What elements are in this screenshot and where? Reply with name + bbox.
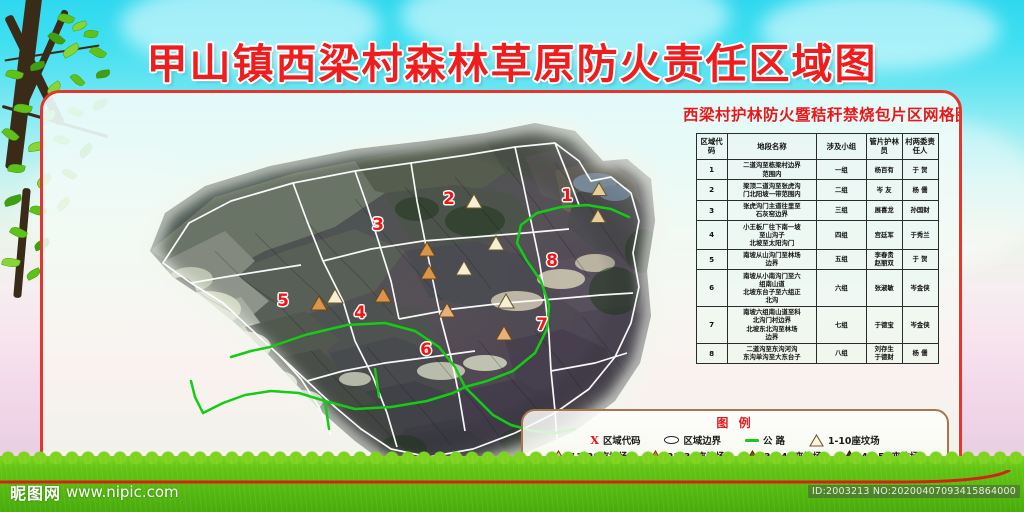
cell-group: 七组: [817, 306, 867, 343]
grave-marker-icon: [487, 235, 505, 251]
brand-watermark: 昵图网 www.nipic.com: [10, 480, 179, 504]
table-row: 7南坡六组南山道至科北沟门村边界北坡东北沟至林场边界七组于德宝岑金侠: [696, 306, 938, 343]
legend-title: 图 例: [523, 414, 947, 431]
legend-item-graves-1-10: 1-10座坟场: [809, 433, 880, 447]
image-id-code: ID:2003213 NO:20200407093415864000: [808, 485, 1020, 498]
cell-area-code: 2: [696, 180, 727, 200]
responsibility-table: 区域代码 地段名称 涉及小组 管片护林员 村两委责任人 1二道沟至栋梁村边界范围…: [696, 133, 939, 364]
cell-area-code: 6: [696, 270, 727, 307]
cell-area-code: 4: [696, 221, 727, 250]
cell-group: 五组: [817, 249, 867, 269]
table-body: 1二道沟至栋梁村边界范围内一组杨百有于 贺2梁顶二道沟至张虎沟门北阳坡一带范围内…: [696, 159, 938, 363]
area-marker-2[interactable]: 2: [443, 189, 455, 209]
table-row: 8二道沟至东沟河沟东沟单沟至大东台子八组刘存生于德财杨 儒: [696, 343, 938, 363]
th-section-name-label: 地段名称: [757, 142, 787, 151]
area-marker-4[interactable]: 4: [354, 303, 366, 323]
cell-section-name: 南坡从山沟门至林场边界: [727, 249, 816, 269]
cell-ranger: 展喜龙: [866, 200, 902, 220]
ellipse-outline-icon: [664, 436, 679, 444]
cell-section-name: 二道沟至东沟河沟东沟单沟至大东台子: [727, 343, 816, 363]
grave-marker-icon: [326, 288, 344, 304]
grave-marker-icon: [497, 293, 515, 309]
legend-label-graves-1-10: 1-10座坟场: [828, 433, 880, 447]
cell-ranger: 宫廷军: [866, 221, 902, 250]
green-line-icon: [745, 439, 759, 442]
cell-ranger: 刘存生于德财: [866, 343, 902, 363]
cell-section-name: 南坡从小南沟门至六组南山道北坡东台子至六组正北沟: [727, 270, 816, 307]
brand-url: www.nipic.com: [66, 483, 179, 501]
brand-logo-text: 昵图网: [10, 480, 61, 504]
x-mark-icon: X: [590, 434, 599, 447]
table-row: 3张虎沟门主道往里至石灰窑边界三组展喜龙孙国财: [696, 200, 938, 220]
cell-area-code: 8: [696, 343, 727, 363]
table-header-row: 区域代码 地段名称 涉及小组 管片护林员 村两委责任人: [696, 134, 938, 160]
cell-responsible: 于秀兰: [902, 221, 938, 250]
grave-marker-icon: [310, 295, 328, 311]
cell-responsible: 杨 儒: [902, 343, 938, 363]
area-marker-5[interactable]: 5: [277, 291, 289, 311]
th-group-label: 涉及小组: [827, 142, 857, 151]
th-ranger: 管片护林员: [866, 134, 902, 160]
cell-group: 一组: [817, 159, 867, 179]
page-title: 甲山镇西梁村森林草原防火责任区域图: [0, 30, 1024, 90]
th-ranger-label: 管片护林员: [869, 137, 899, 155]
table-row: 6南坡从小南沟门至六组南山道北坡东台子至六组正北沟六组张淑敏岑金侠: [696, 270, 938, 307]
area-marker-7[interactable]: 7: [536, 315, 548, 335]
cell-group: 八组: [817, 343, 867, 363]
grave-marker-icon: [438, 302, 456, 318]
area-marker-8[interactable]: 8: [546, 251, 558, 271]
grave-marker-icon: [495, 325, 513, 341]
cell-ranger: 张淑敏: [866, 270, 902, 307]
cell-section-name: 小王板厂往下南一坡至山沟子北坡至太阳沟门: [727, 221, 816, 250]
th-section-name: 地段名称: [727, 134, 816, 160]
grave-marker-icon: [465, 193, 483, 209]
cell-area-code: 5: [696, 249, 727, 269]
triangle-outline-icon: [809, 434, 824, 447]
th-responsible-label: 村两委责任人: [905, 137, 935, 155]
legend-row-1: X 区域代码 区域边界 公 路 1-10座坟场: [523, 433, 947, 447]
table-title: 西梁村护林防火暨秸秆禁烧包片区网格图: [683, 103, 951, 125]
cell-ranger: 杨百有: [866, 159, 902, 179]
cell-section-name: 南坡六组南山道至科北沟门村边界北坡东北沟至林场边界: [727, 306, 816, 343]
th-responsible: 村两委责任人: [902, 134, 938, 160]
table-row: 1二道沟至栋梁村边界范围内一组杨百有于 贺: [696, 159, 938, 179]
table-row: 4小王板厂往下南一坡至山沟子北坡至太阳沟门四组宫廷军于秀兰: [696, 221, 938, 250]
grave-marker-icon: [418, 241, 436, 257]
th-group: 涉及小组: [817, 134, 867, 160]
cell-area-code: 1: [696, 159, 727, 179]
grave-marker-icon: [591, 182, 608, 197]
cell-responsible: 杨 儒: [902, 180, 938, 200]
grave-marker-icon: [455, 260, 473, 276]
cell-ranger: 于德宝: [866, 306, 902, 343]
content-panel: 1 2 3 4 5 6 7 8 西梁村护林防火暨秸秆禁烧包片区网格图: [40, 90, 962, 488]
legend-label-road: 公 路: [763, 433, 785, 447]
table-row: 2梁顶二道沟至张虎沟门北阳坡一带范围内二组岑 友杨 儒: [696, 180, 938, 200]
cell-area-code: 3: [696, 200, 727, 220]
cell-responsible: 岑金侠: [902, 306, 938, 343]
legend-item-area-code: X 区域代码: [590, 433, 640, 447]
cell-ranger: 李春贵赵丽双: [866, 249, 902, 269]
grave-marker-icon: [374, 287, 392, 303]
legend-item-road: 公 路: [745, 433, 785, 447]
legend-label-area-code: 区域代码: [603, 433, 641, 447]
th-area-code: 区域代码: [696, 134, 727, 160]
legend-item-area-boundary: 区域边界: [664, 433, 721, 447]
cell-area-code: 7: [696, 306, 727, 343]
poster-root: 甲山镇西梁村森林草原防火责任区域图: [0, 0, 1024, 512]
cell-responsible: 于 贺: [902, 249, 938, 269]
legend-label-area-boundary: 区域边界: [683, 433, 721, 447]
grid-table-block: 西梁村护林防火暨秸秆禁烧包片区网格图 区域代码 地段名称 涉及小组 管片护林员 …: [683, 99, 951, 364]
cell-group: 四组: [817, 221, 867, 250]
cell-group: 六组: [817, 270, 867, 307]
cell-responsible: 岑金侠: [902, 270, 938, 307]
cell-group: 三组: [817, 200, 867, 220]
cell-section-name: 梁顶二道沟至张虎沟门北阳坡一带范围内: [727, 180, 816, 200]
cell-ranger: 岑 友: [866, 180, 902, 200]
area-marker-3[interactable]: 3: [372, 215, 384, 235]
table-row: 5南坡从山沟门至林场边界五组李春贵赵丽双于 贺: [696, 249, 938, 269]
grave-marker-icon: [590, 209, 607, 224]
cell-section-name: 张虎沟门主道往里至石灰窑边界: [727, 200, 816, 220]
area-marker-1[interactable]: 1: [561, 186, 573, 206]
cell-group: 二组: [817, 180, 867, 200]
cell-responsible: 孙国财: [902, 200, 938, 220]
grave-marker-icon: [420, 264, 438, 280]
area-marker-6[interactable]: 6: [420, 340, 432, 360]
th-area-code-label: 区域代码: [701, 137, 723, 155]
cell-responsible: 于 贺: [902, 159, 938, 179]
cell-section-name: 二道沟至栋梁村边界范围内: [727, 159, 816, 179]
footer-bar: 昵图网 www.nipic.com ID:2003213 NO:20200407…: [0, 472, 1024, 512]
